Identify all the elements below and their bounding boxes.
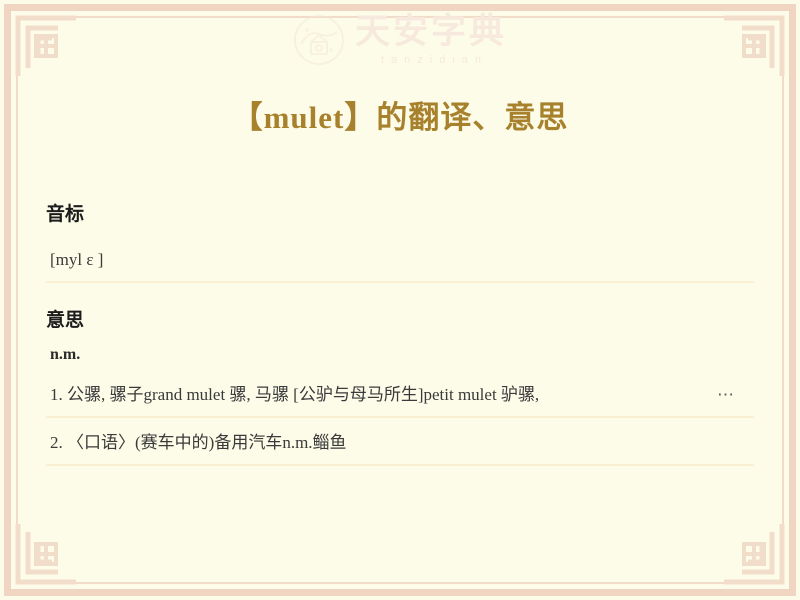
page-title: 【mulet】的翻译、意思 bbox=[46, 92, 754, 137]
definition-truncation-ellipsis[interactable]: ⋯ bbox=[717, 385, 750, 405]
phonetic-value: [myl ε ] bbox=[46, 240, 754, 283]
part-of-speech-label: n.m. bbox=[46, 332, 754, 370]
section-heading-meaning: 意思 bbox=[46, 305, 754, 332]
definition-row: 2. 〈口语〉(赛车中的)备用汽车n.m.鲻鱼 bbox=[46, 418, 754, 466]
definition-text: 1. 公骡, 骡子grand mulet 骡, 马骡 [公驴与母马所生]peti… bbox=[50, 380, 539, 405]
definition-text: 2. 〈口语〉(赛车中的)备用汽车n.m.鲻鱼 bbox=[50, 428, 347, 453]
section-heading-phonetic: 音标 bbox=[46, 199, 754, 226]
main-content: 【mulet】的翻译、意思 音标 [myl ε ] 意思 n.m. 1. 公骡,… bbox=[46, 78, 754, 466]
dictionary-page: 天安字典 tanzidian 【mulet】的翻译、意思 音标 [myl ε ]… bbox=[0, 0, 800, 600]
watermark-title: 天安字典 bbox=[355, 15, 507, 50]
corner-ornament-top-right-icon bbox=[722, 14, 786, 78]
corner-ornament-top-left-icon bbox=[14, 14, 78, 78]
corner-ornament-bottom-right-icon bbox=[722, 522, 786, 586]
circular-seal-emblem-icon bbox=[293, 14, 345, 66]
definition-row: 1. 公骡, 骡子grand mulet 骡, 马骡 [公驴与母马所生]peti… bbox=[46, 370, 754, 418]
corner-ornament-bottom-left-icon bbox=[14, 522, 78, 586]
site-watermark: 天安字典 tanzidian bbox=[0, 8, 800, 72]
watermark-subtitle: tanzidian bbox=[374, 55, 488, 66]
